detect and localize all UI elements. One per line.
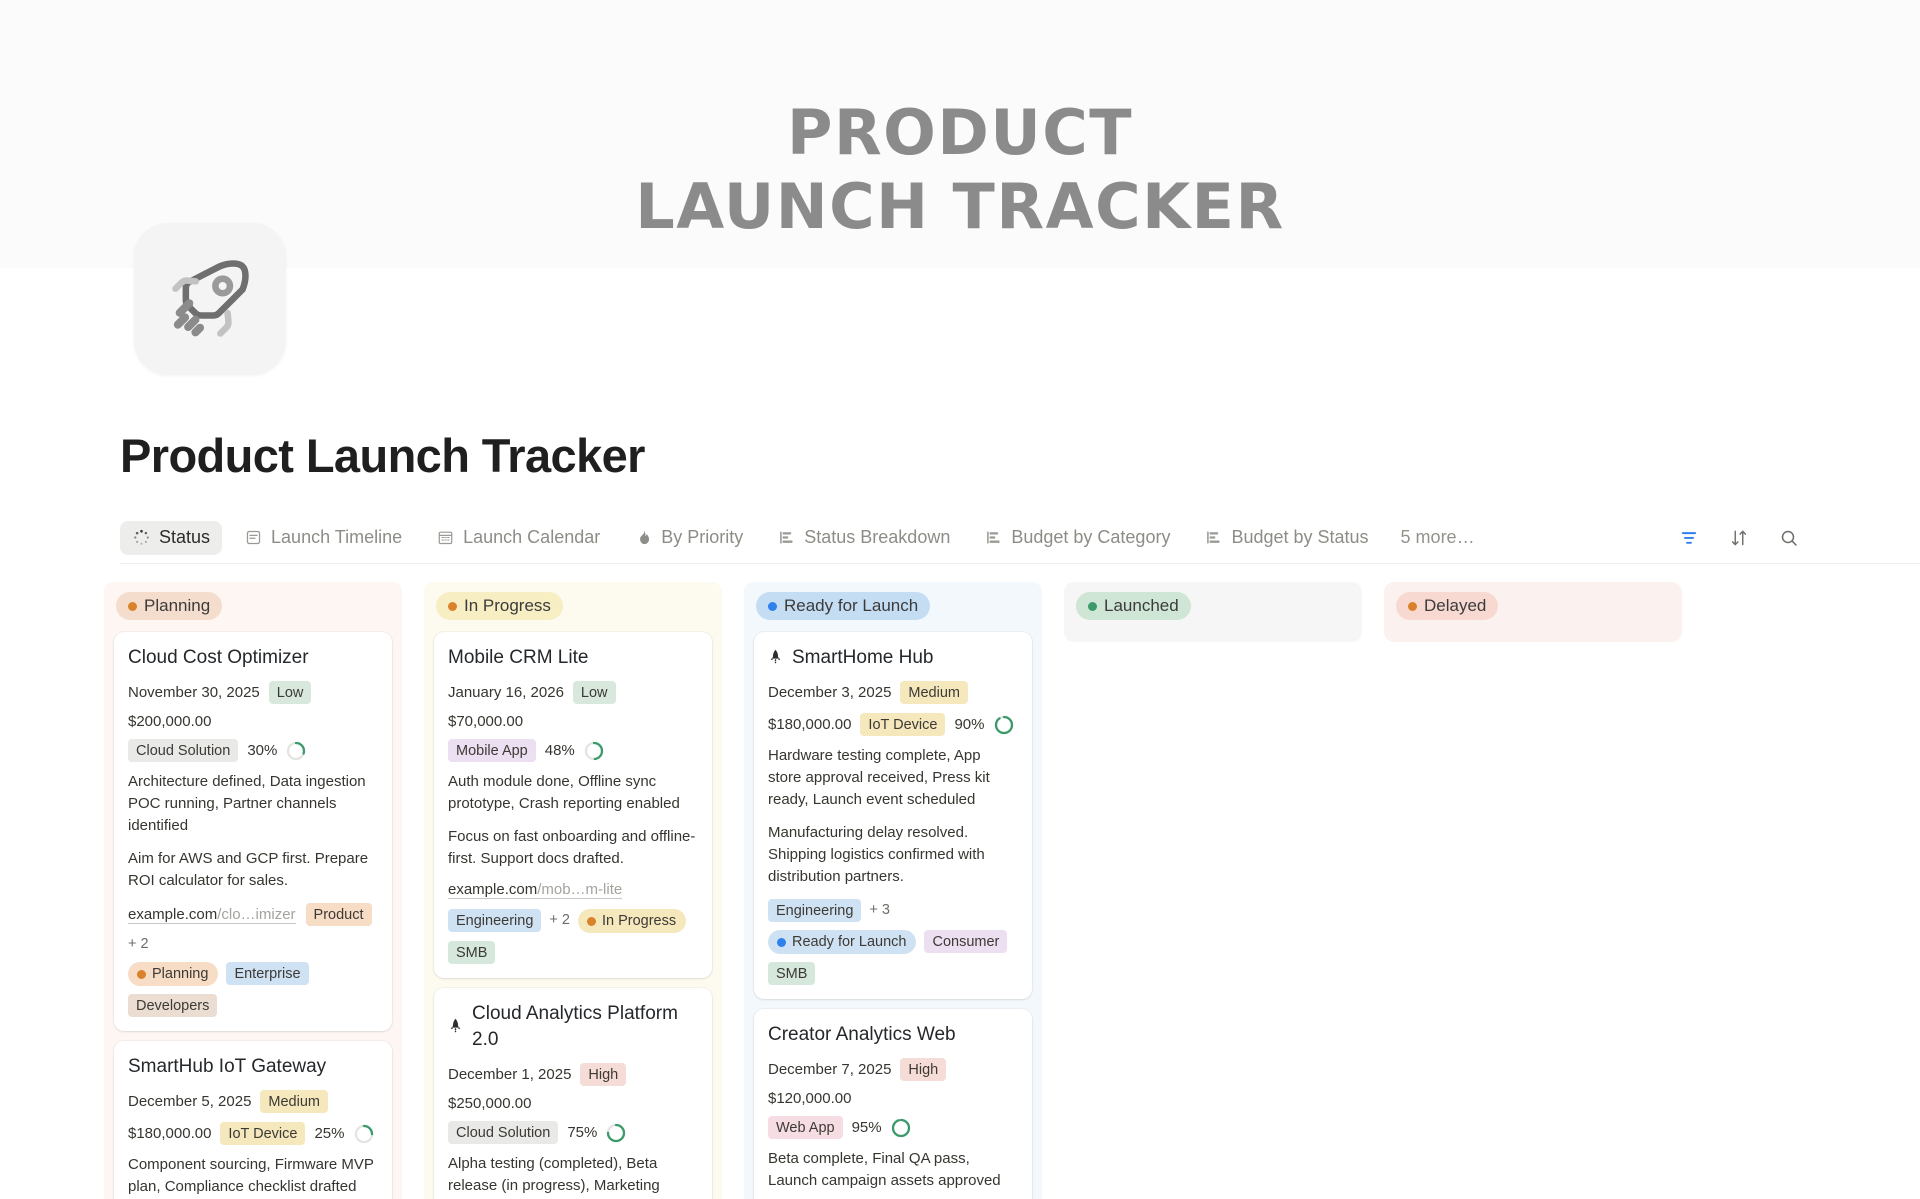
rocket-icon[interactable] (134, 223, 286, 375)
column-header[interactable]: Delayed (1384, 582, 1682, 632)
team-chip[interactable]: Product (306, 903, 372, 926)
kanban-column-ready-for-launch: Ready for Launch SmartHome HubDecember 3… (744, 582, 1042, 1199)
status-badge[interactable]: Delayed (1396, 592, 1498, 620)
card-description-2: Manufacturing delay resolved. Shipping l… (768, 822, 1018, 888)
card-title-text: Mobile CRM Lite (448, 645, 588, 671)
card-title-text: Cloud Cost Optimizer (128, 645, 309, 671)
tab-budget-by-category[interactable]: Budget by Category (972, 521, 1182, 555)
progress-ring (354, 1124, 374, 1144)
card-url-row: example.com/mob…m-lite (448, 881, 698, 899)
spinner-icon (132, 528, 151, 547)
priority-chip[interactable]: Medium (260, 1090, 328, 1113)
card-budget: $250,000.00 (448, 1095, 531, 1112)
column-body: Mobile CRM LiteJanuary 16, 2026Low$70,00… (424, 632, 722, 1199)
calendar-icon (436, 528, 455, 547)
card-meta-primary: December 7, 2025High$120,000.00 (768, 1058, 1018, 1107)
page-header: Product Launch Tracker Status Laun (0, 268, 1920, 564)
column-label: Ready for Launch (784, 596, 918, 616)
card-title: Cloud Cost Optimizer (128, 645, 378, 671)
banner-title: PRODUCT LAUNCH TRACKER (0, 96, 1920, 244)
column-body: SmartHome HubDecember 3, 2025Medium$180,… (744, 632, 1042, 1199)
status-badge[interactable]: In Progress (436, 592, 563, 620)
column-body (1064, 632, 1362, 642)
column-label: In Progress (464, 596, 551, 616)
card-budget: $200,000.00 (128, 713, 211, 730)
kanban-column-delayed: Delayed (1384, 582, 1682, 642)
tab-status[interactable]: Status (120, 521, 222, 555)
fire-icon (634, 528, 653, 547)
tag-chip[interactable]: Consumer (924, 930, 1007, 953)
card-date: December 5, 2025 (128, 1093, 251, 1110)
status-dot (128, 602, 137, 611)
rocket-emoji-icon (768, 648, 783, 668)
card-description-1: Hardware testing complete, App store app… (768, 745, 1018, 811)
category-chip[interactable]: IoT Device (220, 1122, 305, 1145)
tag-chip[interactable]: Engineering (768, 899, 861, 922)
card-url[interactable]: example.com/clo…imizer (128, 906, 296, 924)
status-dot (587, 917, 596, 926)
priority-chip[interactable]: Medium (900, 681, 968, 704)
progress-percent: 25% (314, 1125, 344, 1142)
tag-chip[interactable]: Ready for Launch (768, 930, 916, 954)
kanban-card[interactable]: Cloud Analytics Platform 2.0December 1, … (434, 988, 712, 1199)
kanban-column-launched: Launched (1064, 582, 1362, 642)
more-count[interactable]: + 2 (549, 909, 570, 933)
status-dot (137, 970, 146, 979)
tab-label: Status Breakdown (804, 527, 950, 548)
card-title: SmartHub IoT Gateway (128, 1054, 378, 1080)
card-meta-secondary: Cloud Solution75% (448, 1121, 698, 1144)
card-url[interactable]: example.com/mob…m-lite (448, 881, 622, 899)
card-meta-primary: December 1, 2025High$250,000.00 (448, 1063, 698, 1112)
status-dot (768, 602, 777, 611)
card-budget: $180,000.00 (768, 716, 851, 733)
tab-budget-by-status[interactable]: Budget by Status (1192, 521, 1380, 555)
category-chip[interactable]: Cloud Solution (448, 1121, 558, 1144)
card-date: January 16, 2026 (448, 684, 564, 701)
status-badge[interactable]: Planning (116, 592, 222, 620)
bar-chart-icon (1204, 528, 1223, 547)
card-date: December 7, 2025 (768, 1061, 891, 1078)
priority-chip[interactable]: Low (573, 681, 616, 704)
bar-chart-icon (984, 528, 1003, 547)
card-date: December 3, 2025 (768, 684, 891, 701)
page-title: Product Launch Tracker (120, 268, 1920, 484)
card-date: November 30, 2025 (128, 684, 260, 701)
priority-chip[interactable]: Low (269, 681, 312, 704)
category-chip[interactable]: IoT Device (860, 713, 945, 736)
tabs-overflow-button[interactable]: 5 more… (1391, 527, 1485, 548)
column-label: Delayed (1424, 596, 1486, 616)
kanban-card[interactable]: Cloud Cost OptimizerNovember 30, 2025Low… (114, 632, 392, 1031)
list-icon (244, 528, 263, 547)
banner-line-2: LAUNCH TRACKER (0, 170, 1920, 244)
kanban-board: Planning Cloud Cost OptimizerNovember 30… (0, 564, 1920, 1199)
kanban-card[interactable]: SmartHome HubDecember 3, 2025Medium$180,… (754, 632, 1032, 999)
card-meta-primary: December 3, 2025Medium (768, 681, 1018, 704)
category-chip[interactable]: Cloud Solution (128, 739, 238, 762)
more-count[interactable]: + 2 (128, 936, 149, 952)
card-title: Cloud Analytics Platform 2.0 (448, 1001, 698, 1053)
rocket-emoji-icon (448, 1017, 463, 1037)
tab-label: Status (159, 527, 210, 548)
category-chip[interactable]: Mobile App (448, 739, 536, 762)
kanban-column-planning: Planning Cloud Cost OptimizerNovember 30… (104, 582, 402, 1199)
column-header[interactable]: Planning (104, 582, 402, 632)
column-label: Planning (144, 596, 210, 616)
card-description-1: Beta complete, Final QA pass, Launch cam… (768, 1148, 1018, 1192)
card-description-1: Architecture defined, Data ingestion POC… (128, 771, 378, 837)
card-tags: Engineering+ 3Ready for LaunchConsumerSM… (768, 899, 1018, 985)
progress-percent: 30% (247, 742, 277, 759)
tag-chip[interactable]: In Progress (578, 909, 686, 933)
progress-ring (286, 741, 306, 761)
progress-percent: 75% (567, 1124, 597, 1141)
card-title-text: SmartHome Hub (792, 645, 934, 671)
card-title-text: Cloud Analytics Platform 2.0 (472, 1001, 698, 1053)
view-toolbar (1678, 527, 1800, 549)
tag-chip[interactable]: SMB (448, 941, 495, 964)
card-meta-secondary: Mobile App48% (448, 739, 698, 762)
status-badge[interactable]: Launched (1076, 592, 1191, 620)
card-description-2: Focus on fast onboarding and offline-fir… (448, 826, 698, 870)
view-tabs: Status Launch Timeline Launch Calendar (120, 512, 1920, 564)
filter-icon[interactable] (1678, 527, 1700, 549)
status-badge[interactable]: Ready for Launch (756, 592, 930, 620)
card-description-1: Alpha testing (completed), Beta release … (448, 1153, 698, 1199)
tab-label: Budget by Category (1011, 527, 1170, 548)
tag-chip[interactable]: SMB (768, 962, 815, 985)
tab-label: By Priority (661, 527, 743, 548)
card-budget: $180,000.00 (128, 1125, 211, 1142)
progress-ring (891, 1118, 911, 1138)
card-meta-secondary: Cloud Solution30% (128, 739, 378, 762)
kanban-card[interactable]: SmartHub IoT GatewayDecember 5, 2025Medi… (114, 1041, 392, 1199)
column-body: Cloud Cost OptimizerNovember 30, 2025Low… (104, 632, 402, 1199)
tab-label: Budget by Status (1231, 527, 1368, 548)
tab-launch-calendar[interactable]: Launch Calendar (424, 521, 612, 555)
tag-chip[interactable]: Planning (128, 962, 218, 986)
card-title: Creator Analytics Web (768, 1022, 1018, 1048)
kanban-column-in-progress: In Progress Mobile CRM LiteJanuary 16, 2… (424, 582, 722, 1199)
column-header[interactable]: Ready for Launch (744, 582, 1042, 632)
tag-chip[interactable]: Enterprise (226, 962, 308, 985)
cover-banner: PRODUCT LAUNCH TRACKER (0, 0, 1920, 268)
card-tags: PlanningEnterpriseDevelopers (128, 962, 378, 1017)
tab-status-breakdown[interactable]: Status Breakdown (765, 521, 962, 555)
card-date: December 1, 2025 (448, 1066, 571, 1083)
progress-ring (584, 741, 604, 761)
priority-chip[interactable]: High (580, 1063, 626, 1086)
banner-line-1: PRODUCT (0, 96, 1920, 170)
progress-percent: 95% (852, 1119, 882, 1136)
card-meta-primary: November 30, 2025Low$200,000.00 (128, 681, 378, 730)
progress-ring (606, 1123, 626, 1143)
progress-ring (994, 715, 1014, 735)
card-description-2: Aim for AWS and GCP first. Prepare ROI c… (128, 848, 378, 892)
priority-chip[interactable]: High (900, 1058, 946, 1081)
status-dot (1408, 602, 1417, 611)
column-body (1384, 632, 1682, 642)
more-count[interactable]: + 3 (869, 899, 890, 922)
card-budget: $120,000.00 (768, 1090, 851, 1107)
tab-label: Launch Timeline (271, 527, 402, 548)
card-title-text: Creator Analytics Web (768, 1022, 956, 1048)
card-meta-primary: January 16, 2026Low$70,000.00 (448, 681, 698, 730)
tab-label: Launch Calendar (463, 527, 600, 548)
sort-icon[interactable] (1728, 527, 1750, 549)
card-url-row: example.com/clo…imizerProduct+ 2 (128, 903, 378, 952)
status-dot (448, 602, 457, 611)
column-header[interactable]: In Progress (424, 582, 722, 632)
tab-by-priority[interactable]: By Priority (622, 521, 755, 555)
progress-percent: 90% (954, 716, 984, 733)
card-description-1: Auth module done, Offline sync prototype… (448, 771, 698, 815)
card-tags: Engineering+ 2In ProgressSMB (448, 909, 698, 964)
card-meta-primary: December 5, 2025Medium (128, 1090, 378, 1113)
column-header[interactable]: Launched (1064, 582, 1362, 632)
card-title-text: SmartHub IoT Gateway (128, 1054, 326, 1080)
tab-launch-timeline[interactable]: Launch Timeline (232, 521, 414, 555)
card-title: Mobile CRM Lite (448, 645, 698, 671)
kanban-card[interactable]: Mobile CRM LiteJanuary 16, 2026Low$70,00… (434, 632, 712, 978)
card-budget: $70,000.00 (448, 713, 523, 730)
card-title: SmartHome Hub (768, 645, 1018, 671)
card-description-1: Component sourcing, Firmware MVP plan, C… (128, 1154, 378, 1198)
card-meta-secondary: $180,000.00IoT Device25% (128, 1122, 378, 1145)
tag-chip[interactable]: Developers (128, 994, 217, 1017)
status-dot (1088, 602, 1097, 611)
category-chip[interactable]: Web App (768, 1116, 843, 1139)
search-icon[interactable] (1778, 527, 1800, 549)
card-meta-secondary: Web App95% (768, 1116, 1018, 1139)
kanban-card[interactable]: Creator Analytics WebDecember 7, 2025Hig… (754, 1009, 1032, 1199)
tag-chip[interactable]: Engineering (448, 909, 541, 932)
bar-chart-icon (777, 528, 796, 547)
progress-percent: 48% (545, 742, 575, 759)
card-meta-secondary: $180,000.00IoT Device90% (768, 713, 1018, 736)
status-dot (777, 938, 786, 947)
column-label: Launched (1104, 596, 1179, 616)
